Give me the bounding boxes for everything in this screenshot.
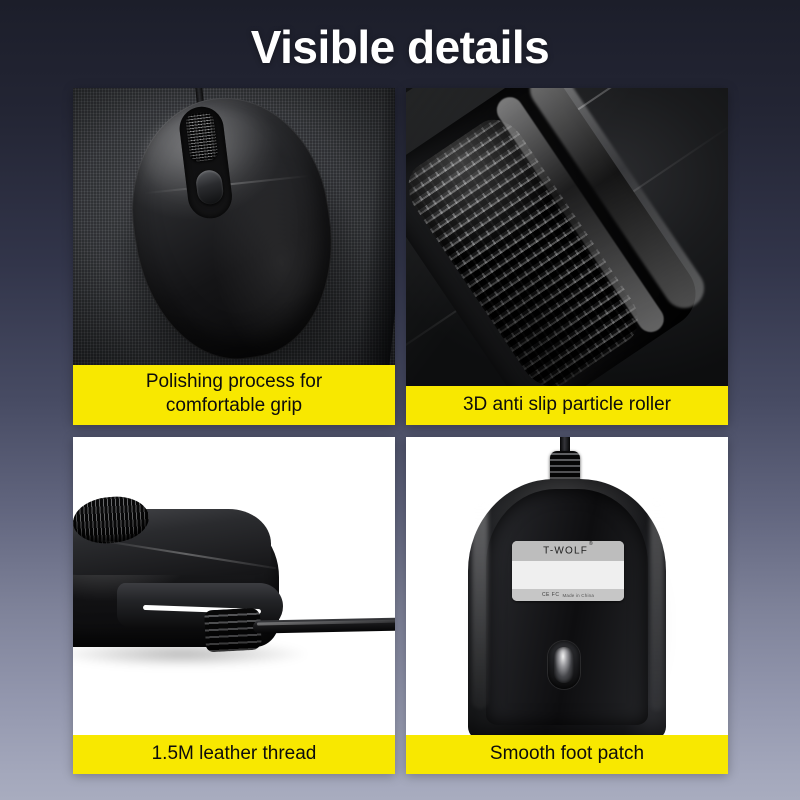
page-title: Visible details (0, 16, 800, 78)
product-detail-page: Visible details (0, 0, 800, 800)
caption-line-1: 1.5M leather thread (79, 742, 389, 766)
photo-vignette (73, 88, 395, 365)
product-spec-label: T-WOLF® CE FC Made in China (512, 541, 624, 601)
caption-line-1: Smooth foot patch (412, 742, 722, 766)
origin-text: Made in China (562, 593, 594, 598)
card-caption-polishing: Polishing process for comfortable grip (73, 365, 395, 425)
caption-line-1: Polishing process for (79, 370, 389, 394)
feature-card-grid: Polishing process for comfortable grip (73, 88, 728, 774)
edge-highlight-right (650, 497, 664, 711)
feature-card-roller[interactable]: 3D anti slip particle roller (406, 88, 728, 425)
brand-text: T-WOLF (543, 546, 588, 557)
card-caption-footpatch: Smooth foot patch (406, 735, 728, 774)
feature-card-thread[interactable]: 1.5M leather thread (73, 437, 395, 774)
mouse-base-inner (486, 489, 648, 725)
trademark-symbol: ® (589, 541, 594, 547)
label-blank-area (512, 561, 624, 589)
photo-scroll-wheel-macro (406, 88, 728, 386)
photo-mouse-side-cable (73, 437, 395, 735)
optical-sensor-housing (548, 641, 580, 689)
caption-line-1: 3D anti slip particle roller (412, 393, 722, 417)
label-footer-row: CE FC Made in China (512, 589, 624, 601)
feature-card-footpatch[interactable]: T-WOLF® CE FC Made in China (406, 437, 728, 774)
mouse-underside-view: T-WOLF® CE FC Made in China (460, 445, 674, 735)
feature-card-polishing[interactable]: Polishing process for comfortable grip (73, 88, 395, 425)
certification-marks: CE FC (542, 592, 560, 598)
photo-mouse-underside: T-WOLF® CE FC Made in China (406, 437, 728, 735)
brand-name: T-WOLF® (543, 545, 593, 556)
optical-sensor-lens (554, 647, 574, 683)
card-caption-roller: 3D anti slip particle roller (406, 386, 728, 425)
card-caption-thread: 1.5M leather thread (73, 735, 395, 774)
edge-highlight-left (472, 499, 488, 709)
caption-line-2: comfortable grip (79, 394, 389, 418)
label-brand-row: T-WOLF® (512, 541, 624, 561)
mouse-side-view (73, 491, 387, 691)
photo-mouse-on-mousepad (73, 88, 395, 365)
